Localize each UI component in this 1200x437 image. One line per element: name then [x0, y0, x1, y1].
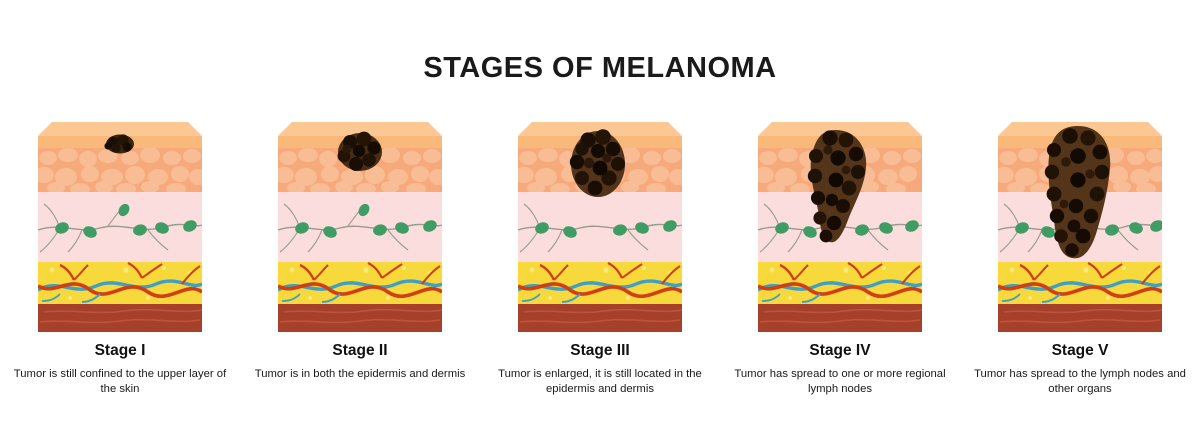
muscle-layer [38, 304, 202, 332]
skin-diagram-stage-5 [990, 118, 1170, 334]
stage-panel-3: Stage III Tumor is enlarged, it is still… [480, 118, 720, 398]
stage-label-5: Stage V [1052, 342, 1109, 360]
muscle-layer [518, 304, 682, 332]
stage-description-3: Tumor is enlarged, it is still located i… [493, 367, 708, 398]
stage-label-3: Stage III [570, 342, 629, 360]
stage-panel-5: Stage V Tumor has spread to the lymph no… [960, 118, 1200, 398]
muscle-layer [278, 304, 442, 332]
melanoma-stages-infographic: STAGES OF MELANOMA [0, 0, 1200, 437]
muscle-layer [998, 304, 1162, 332]
stage-description-1: Tumor is still confined to the upper lay… [13, 367, 228, 398]
page-title: STAGES OF MELANOMA [0, 52, 1200, 85]
stage-panel-4: Stage IV Tumor has spread to one or more… [720, 118, 960, 398]
stage-panel-1: Stage I Tumor is still confined to the u… [0, 118, 240, 398]
stage-label-2: Stage II [332, 342, 387, 360]
stage-description-4: Tumor has spread to one or more regional… [733, 367, 948, 398]
skin-diagram-stage-1 [30, 118, 210, 334]
skin-diagram-stage-4 [750, 118, 930, 334]
skin-diagram-stage-3 [510, 118, 690, 334]
muscle-layer [758, 304, 922, 332]
stage-label-4: Stage IV [809, 342, 870, 360]
stage-description-5: Tumor has spread to the lymph nodes and … [973, 367, 1188, 398]
stage-panel-2: Stage II Tumor is in both the epidermis … [240, 118, 480, 398]
skin-diagram-stage-2 [270, 118, 450, 334]
stage-label-1: Stage I [95, 342, 146, 360]
stage-description-2: Tumor is in both the epidermis and dermi… [253, 367, 468, 382]
stages-row: Stage I Tumor is still confined to the u… [0, 118, 1200, 398]
